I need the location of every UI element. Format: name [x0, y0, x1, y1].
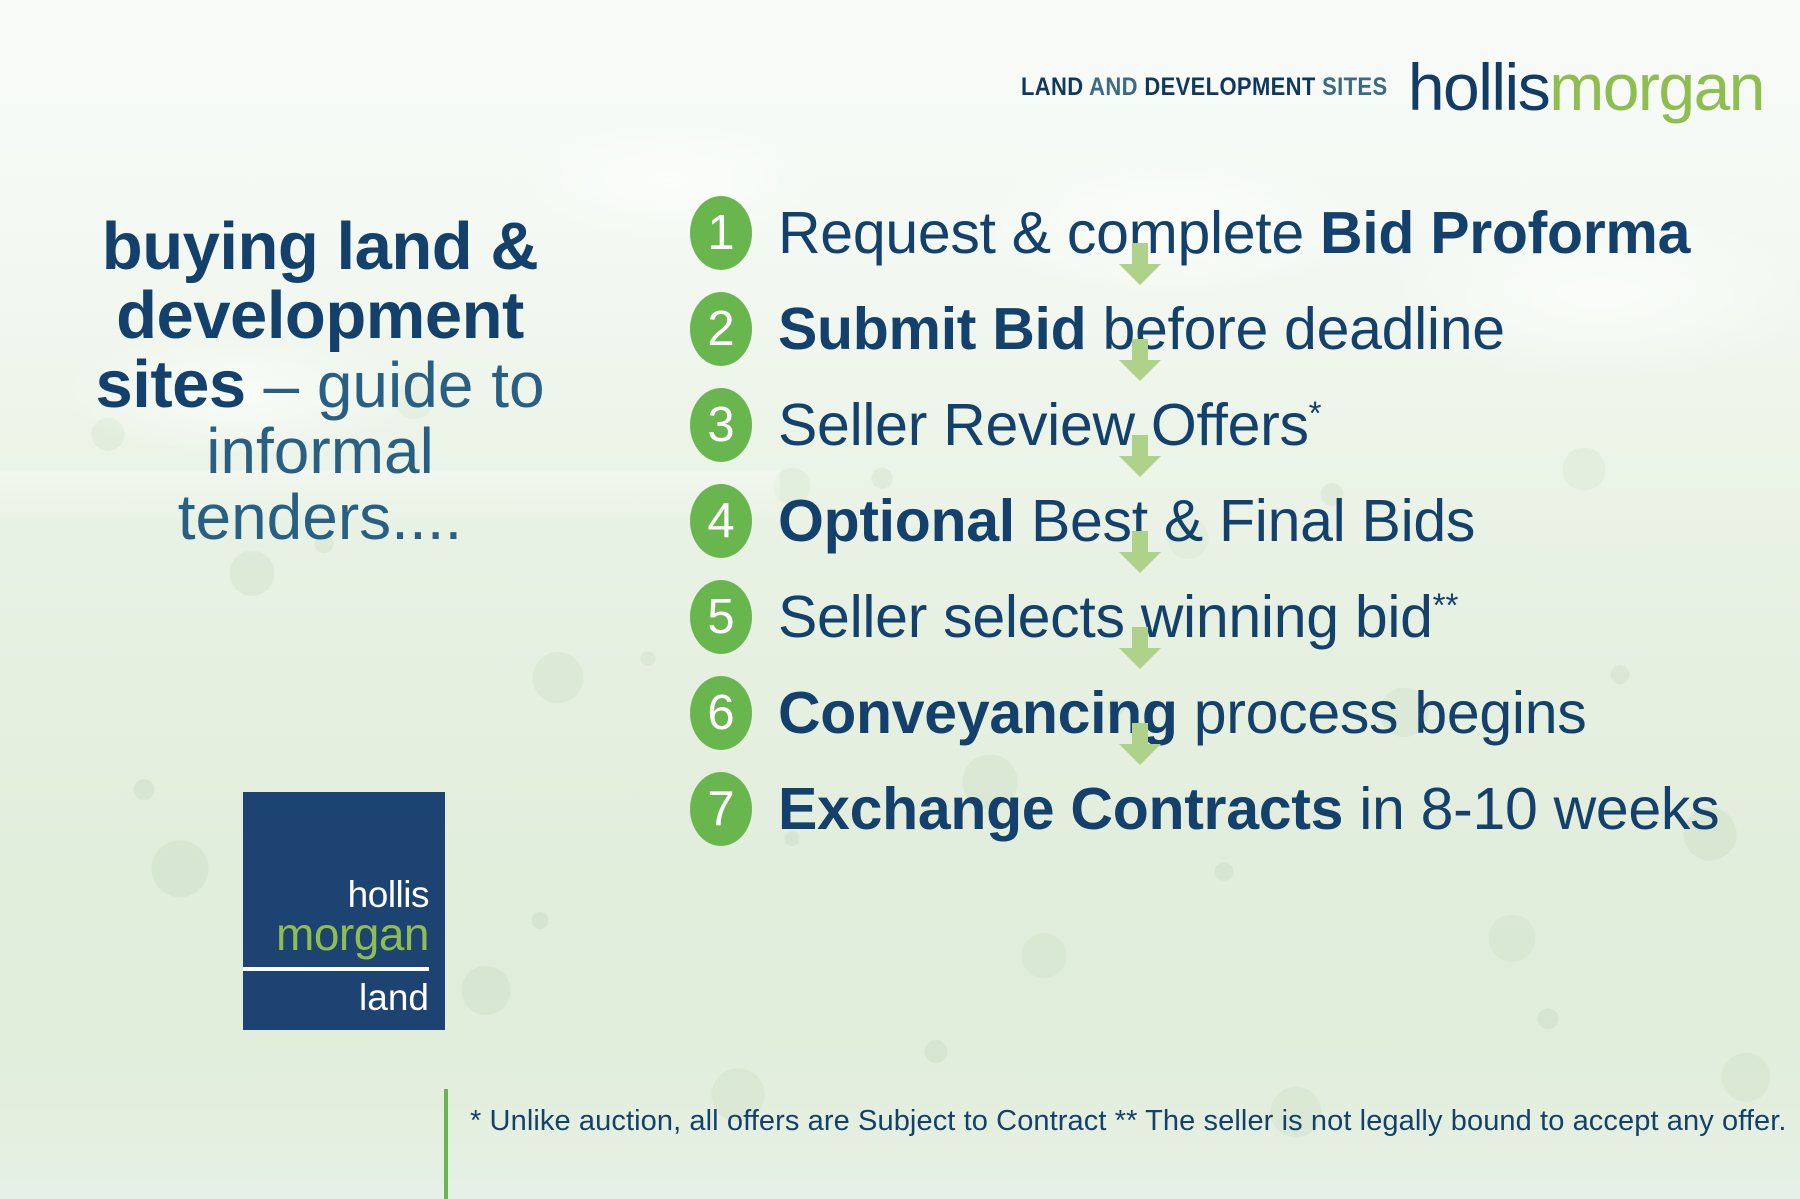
step-label: Exchange Contracts in 8-10 weeks	[778, 775, 1719, 843]
footnote-divider-rule	[444, 1089, 448, 1199]
step-number-badge: 3	[690, 388, 752, 462]
step-label-plain: process begins	[1178, 680, 1587, 746]
logo-inner: hollis morgan land	[243, 876, 429, 1030]
process-step-6: 6Conveyancing process begins	[690, 665, 1770, 761]
logo-divider-rule	[243, 967, 429, 971]
step-number-badge: 2	[690, 292, 752, 366]
footnote: * Unlike auction, all offers are Subject…	[444, 1105, 1764, 1138]
step-number-badge: 1	[690, 196, 752, 270]
infographic-poster: LAND AND DEVELOPMENT SITES hollismorgan …	[0, 0, 1800, 1199]
process-step-3: 3Seller Review Offers*	[690, 377, 1770, 473]
process-step-4: 4Optional Best & Final Bids	[690, 473, 1770, 569]
step-label-plain: Seller selects winning bid	[778, 584, 1433, 650]
step-label-plain: Request & complete	[778, 200, 1320, 266]
logo-morgan-text: morgan	[243, 911, 429, 958]
step-number-badge: 4	[690, 484, 752, 558]
down-arrow-icon	[1117, 339, 1163, 381]
down-arrow-icon	[1117, 723, 1163, 765]
down-arrow-icon	[1117, 435, 1163, 477]
footnote-marker: **	[1433, 588, 1459, 625]
step-number-badge: 6	[690, 676, 752, 750]
content-layer: LAND AND DEVELOPMENT SITES hollismorgan …	[0, 0, 1800, 1199]
step-number-badge: 5	[690, 580, 752, 654]
brand-tagline-land: LAND	[1021, 73, 1084, 101]
down-arrow-icon	[1117, 243, 1163, 285]
process-step-7: 7Exchange Contracts in 8-10 weeks	[690, 761, 1770, 857]
process-step-list: 1Request & complete Bid Proforma2Submit …	[690, 185, 1770, 857]
step-label: Request & complete Bid Proforma	[778, 199, 1690, 267]
footnote-marker: *	[1309, 396, 1322, 433]
process-step-2: 2Submit Bid before deadline	[690, 281, 1770, 377]
brand-header: LAND AND DEVELOPMENT SITES hollismorgan	[971, 54, 1764, 120]
process-step-5: 5Seller selects winning bid**	[690, 569, 1770, 665]
process-step-1: 1Request & complete Bid Proforma	[690, 185, 1770, 281]
page-title: buying land & development sites – guide …	[60, 212, 580, 551]
step-label-plain: Best & Final Bids	[1015, 488, 1475, 554]
brand-tagline-and: AND	[1084, 73, 1145, 101]
hollis-morgan-wordmark: hollismorgan	[1408, 54, 1764, 120]
step-label-emphasis: Submit Bid	[778, 296, 1086, 362]
wordmark-hollis: hollis	[1408, 50, 1549, 124]
step-label-emphasis: Exchange Contracts	[778, 776, 1343, 842]
step-number-badge: 7	[690, 772, 752, 846]
step-label: Conveyancing process begins	[778, 679, 1586, 747]
hollis-morgan-land-logo: hollis morgan land	[243, 792, 445, 1030]
down-arrow-icon	[1117, 531, 1163, 573]
brand-tagline: LAND AND DEVELOPMENT SITES	[1021, 73, 1388, 102]
step-label-plain: in 8-10 weeks	[1343, 776, 1719, 842]
step-label: Seller Review Offers*	[778, 391, 1322, 459]
footnote-text: * Unlike auction, all offers are Subject…	[444, 1105, 1787, 1138]
step-label-plain: Seller Review Offers	[778, 392, 1309, 458]
brand-tagline-development: DEVELOPMENT	[1145, 73, 1316, 101]
step-label-emphasis: Optional	[778, 488, 1015, 554]
step-label-emphasis: Bid Proforma	[1320, 200, 1690, 266]
wordmark-morgan: morgan	[1549, 50, 1764, 124]
logo-land-text: land	[243, 979, 429, 1030]
down-arrow-icon	[1117, 627, 1163, 669]
brand-tagline-sites: SITES	[1316, 73, 1388, 101]
